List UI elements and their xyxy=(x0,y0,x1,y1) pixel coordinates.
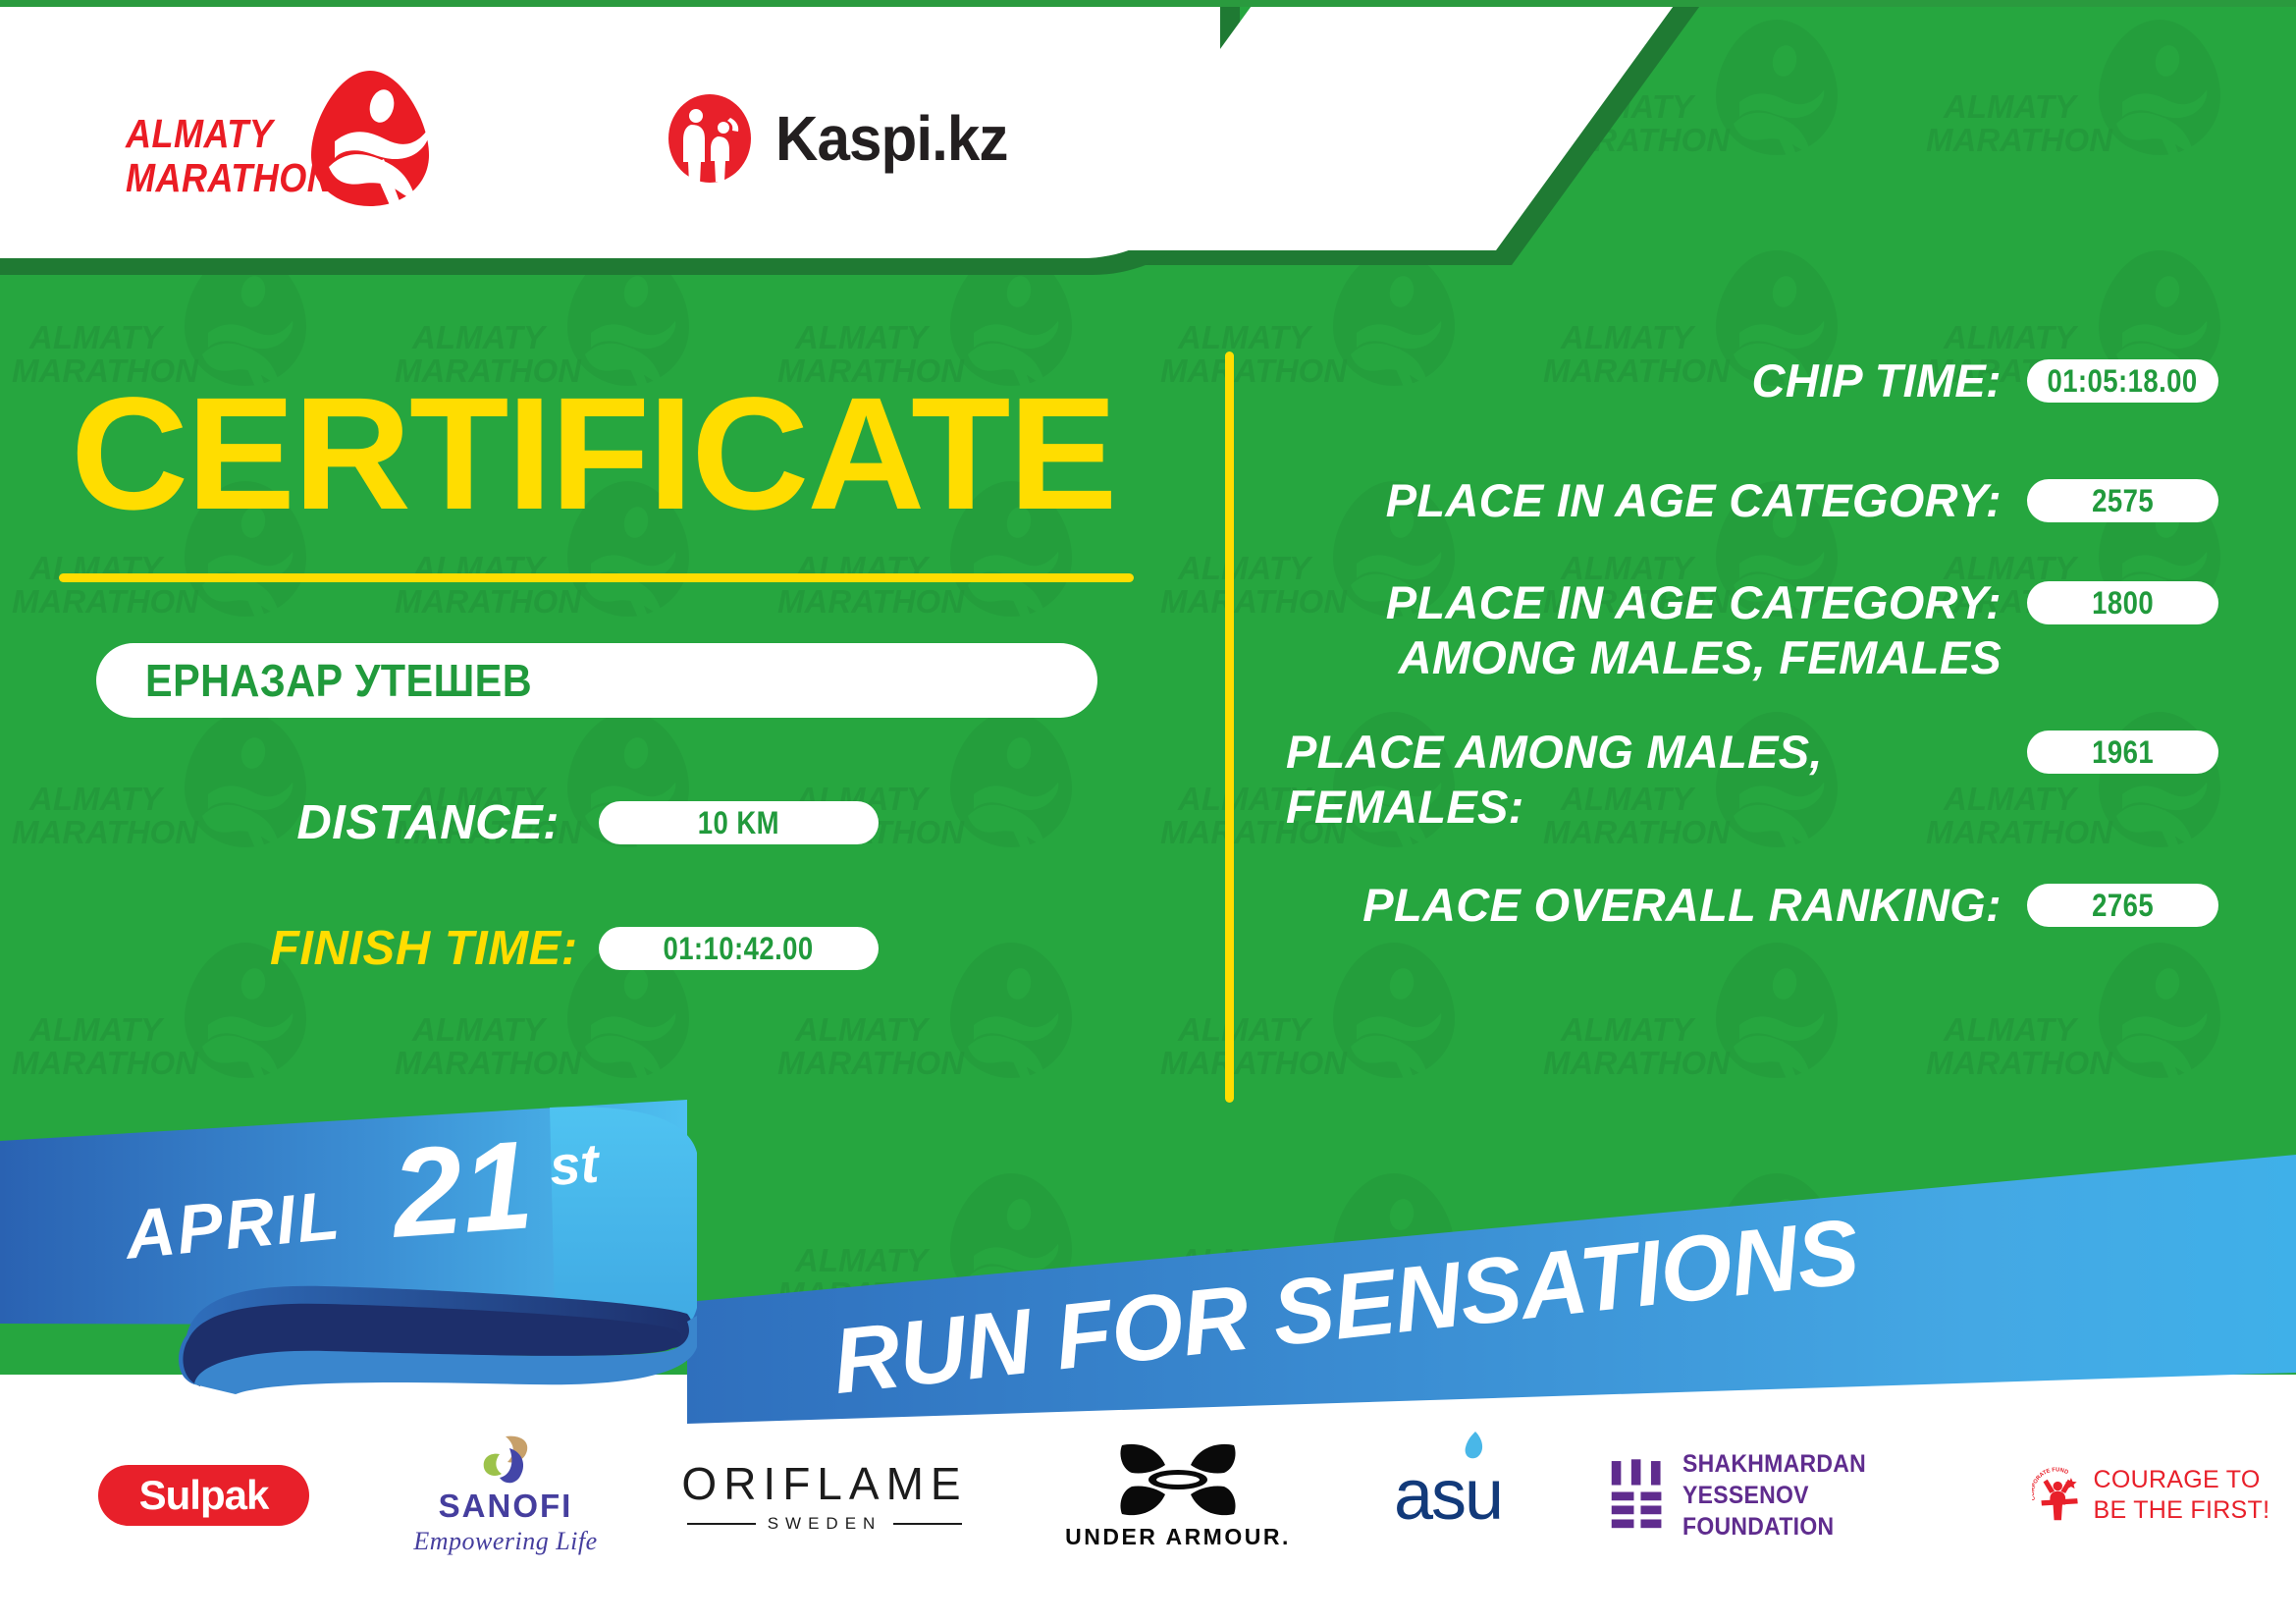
under-armour-wordmark: UNDER ARMOUR. xyxy=(1065,1524,1291,1550)
sponsor-logo-bar: Sulpak SANOFI Empowering Life ORIFLAME S… xyxy=(0,1422,2296,1618)
almaty-marathon-logo: ALMATY MARATHON xyxy=(126,69,430,196)
distance-value-pill: 10 KM xyxy=(599,801,879,844)
page-title: CERTIFICATE xyxy=(71,373,1152,533)
kaspi-logo: Kaspi.kz xyxy=(667,94,1023,183)
finish-time-label: FINISH TIME: xyxy=(270,921,560,976)
kaspi-people-icon xyxy=(667,94,752,183)
stat-row-place-in-age-category: PLACE IN AGE CATEGORY: 2575 xyxy=(1286,473,2218,532)
results-stats-list: CHIP TIME: 01:05:18.00 PLACE IN AGE CATE… xyxy=(1286,353,2218,937)
sulpak-logo: Sulpak xyxy=(98,1465,309,1526)
sponsor-sulpak: Sulpak xyxy=(93,1422,314,1569)
sponsor-corporate-fund: CORPORATE FUND COURAGE TO BE THE FIRST! xyxy=(2032,1422,2277,1569)
yessenov-bars-icon xyxy=(1610,1454,1663,1537)
corporate-fund-tagline: COURAGE TO BE THE FIRST! xyxy=(2093,1465,2277,1526)
corporate-fund-runner-icon: CORPORATE FUND xyxy=(2032,1444,2083,1546)
stat-value: 2575 xyxy=(2092,483,2154,519)
stat-label: CHIP TIME: xyxy=(1286,353,2027,408)
stat-label: PLACE OVERALL RANKING: xyxy=(1286,878,2027,933)
stat-value-pill: 1961 xyxy=(2027,731,2218,774)
column-divider xyxy=(1225,352,1234,1103)
participant-name-value: ЕРНАЗАР УТЕШЕВ xyxy=(145,654,532,707)
sanofi-tagline: Empowering Life xyxy=(413,1527,597,1556)
sponsor-sanofi: SANOFI Empowering Life xyxy=(393,1422,618,1569)
stat-row-place-among-males-females: PLACE AMONG MALES, FEMALES: 1961 xyxy=(1286,725,2218,835)
field-finish-time: FINISH TIME: 01:10:42.00 xyxy=(270,921,879,976)
participant-name-field: ЕРНАЗАР УТЕШЕВ xyxy=(96,643,1097,718)
yessenov-wordmark: SHAKHMARDAN YESSENOV FOUNDATION xyxy=(1682,1448,1958,1543)
oriflame-tagline: SWEDEN xyxy=(768,1514,882,1534)
yessenov-name: SHAKHMARDAN YESSENOV xyxy=(1682,1448,1958,1511)
asu-droplet-icon xyxy=(1458,1430,1487,1463)
stat-row-place-overall-ranking: PLACE OVERALL RANKING: 2765 xyxy=(1286,878,2218,937)
under-armour-icon xyxy=(1116,1441,1240,1518)
stat-value: 01:05:18.00 xyxy=(2048,363,2198,400)
sponsor-oriflame: ORIFLAME SWEDEN xyxy=(677,1422,972,1569)
certificate-page: ALMATY MARATHON ALMATY MARATHON xyxy=(0,0,2296,1624)
stat-label: PLACE IN AGE CATEGORY: xyxy=(1286,473,2027,528)
stat-value-pill: 2575 xyxy=(2027,479,2218,522)
stat-label: PLACE AMONG MALES, FEMALES: xyxy=(1286,725,2027,835)
almaty-marathon-runner-drop-icon xyxy=(307,69,433,208)
asu-wordmark: asu xyxy=(1394,1455,1502,1536)
sanofi-wordmark: SANOFI xyxy=(439,1488,573,1525)
stat-row-chip-time: CHIP TIME: 01:05:18.00 xyxy=(1286,353,2218,412)
top-accent-strip xyxy=(0,0,2296,7)
distance-value: 10 KM xyxy=(698,805,779,841)
yessenov-tagline: FOUNDATION xyxy=(1682,1511,1958,1543)
oriflame-wordmark: ORIFLAME xyxy=(681,1457,967,1510)
oriflame-rule-left xyxy=(687,1523,756,1525)
stat-value: 2765 xyxy=(2092,888,2154,924)
kaspi-wordmark: Kaspi.kz xyxy=(775,107,1008,170)
stat-label: PLACE IN AGE CATEGORY: AMONG MALES, FEMA… xyxy=(1286,575,2027,685)
sulpak-wordmark: Sulpak xyxy=(139,1472,269,1519)
sponsor-under-armour: UNDER ARMOUR. xyxy=(1060,1422,1296,1569)
stat-value: 1800 xyxy=(2092,585,2154,622)
stat-value-pill: 1800 xyxy=(2027,581,2218,624)
finish-time-value: 01:10:42.00 xyxy=(664,931,814,967)
stat-value-pill: 01:05:18.00 xyxy=(2027,359,2218,403)
stat-value-pill: 2765 xyxy=(2027,884,2218,927)
stat-row-place-in-age-category-among: PLACE IN AGE CATEGORY: AMONG MALES, FEMA… xyxy=(1286,575,2218,685)
sanofi-bird-icon xyxy=(470,1435,541,1486)
event-date-ribbon xyxy=(0,1090,2296,1424)
oriflame-sub: SWEDEN xyxy=(687,1514,962,1534)
distance-label: DISTANCE: xyxy=(270,795,560,850)
field-distance: DISTANCE: 10 KM xyxy=(270,795,879,850)
finish-time-value-pill: 01:10:42.00 xyxy=(599,927,879,970)
sponsor-asu: asu xyxy=(1350,1422,1546,1569)
header-logos: ALMATY MARATHON Kaspi.kz xyxy=(0,0,1178,258)
title-underline-rule xyxy=(59,573,1134,582)
sponsor-yessenov-foundation: SHAKHMARDAN YESSENOV FOUNDATION xyxy=(1610,1422,1983,1569)
stat-value: 1961 xyxy=(2092,734,2154,771)
oriflame-rule-right xyxy=(893,1523,962,1525)
